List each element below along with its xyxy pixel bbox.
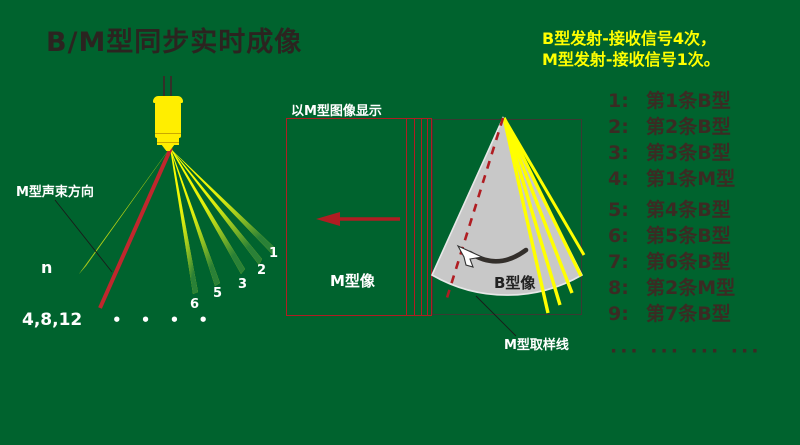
signal-note-line-1: B型发射-接收信号4次，	[542, 28, 720, 49]
slide-canvas: B/M型同步实时成像 B型发射-接收信号4次， M型发射-接收信号1次。 1:第…	[0, 0, 800, 445]
m-beam-leader-line	[55, 200, 112, 272]
b-mode-sector-diagram	[420, 105, 620, 345]
m-mode-scroll-arrow-icon	[316, 212, 401, 226]
list-item-label: 第1条B型	[646, 90, 731, 112]
probe-cable-left	[163, 76, 165, 98]
m-scan-line-1	[406, 119, 407, 315]
beam-number-1: 1	[269, 246, 278, 261]
list-item: 1:第1条B型	[608, 88, 735, 114]
beam-number-3: 3	[238, 277, 247, 292]
list-item-label: 第4条B型	[646, 199, 731, 221]
beam-number-5: 5	[213, 286, 222, 301]
b-mode-sector-fill	[432, 118, 582, 295]
list-item: 4:第1条M型	[608, 166, 735, 192]
m-sample-line-label: M型取样线	[504, 334, 569, 353]
list-item: 2:第2条B型	[608, 114, 735, 140]
list-item: 9:第7条B型	[608, 301, 735, 327]
m-mode-image-label: M型像	[330, 270, 375, 291]
list-item-label: 第5条B型	[646, 225, 731, 247]
m-sample-leader-line	[476, 296, 516, 336]
m-mode-panel-title: 以M型图像显示	[291, 100, 382, 119]
b-beam-group	[79, 148, 274, 294]
probe-ring-lower	[157, 142, 179, 143]
m-beam-line	[100, 148, 171, 308]
list-item-label: 第3条B型	[646, 142, 731, 164]
list-item-label: 第1条M型	[646, 168, 735, 190]
list-item: 5:第4条B型	[608, 197, 735, 223]
signal-note: B型发射-接收信号4次， M型发射-接收信号1次。	[542, 28, 720, 70]
beam-fan-ellipsis: • • • •	[112, 311, 215, 329]
list-item-label: 第2条B型	[646, 116, 731, 138]
ultrasound-probe	[140, 76, 200, 146]
beam-number-6: 6	[190, 297, 199, 312]
probe-ring-upper	[155, 133, 181, 134]
beam-number-2: 2	[257, 263, 266, 278]
m-scan-line-2	[414, 119, 415, 315]
beam-n-label: n	[41, 258, 52, 277]
beam-sequence-list: 1:第1条B型 2:第2条B型 3:第3条B型 4:第1条M型 5:第4条B型 …	[608, 88, 735, 327]
beam-2-fade	[170, 148, 262, 265]
m-beam-index-label: 4,8,12	[22, 310, 82, 330]
probe-cable-right	[170, 76, 172, 98]
m-beam-direction-label: M型声束方向	[16, 181, 94, 200]
list-item: 3:第3条B型	[608, 140, 735, 166]
b-mode-image-label: B型像	[494, 272, 535, 293]
list-item: 8:第2条M型	[608, 275, 735, 301]
list-item-label: 第7条B型	[646, 303, 731, 325]
beam-sequence-ellipsis: ··· ··· ··· ···	[610, 340, 761, 362]
list-item: 6:第5条B型	[608, 223, 735, 249]
list-item-label: 第6条B型	[646, 251, 731, 273]
list-item: 7:第6条B型	[608, 249, 735, 275]
probe-neck	[157, 136, 179, 145]
list-item-label: 第2条M型	[646, 277, 735, 299]
signal-note-line-2: M型发射-接收信号1次。	[542, 49, 720, 70]
